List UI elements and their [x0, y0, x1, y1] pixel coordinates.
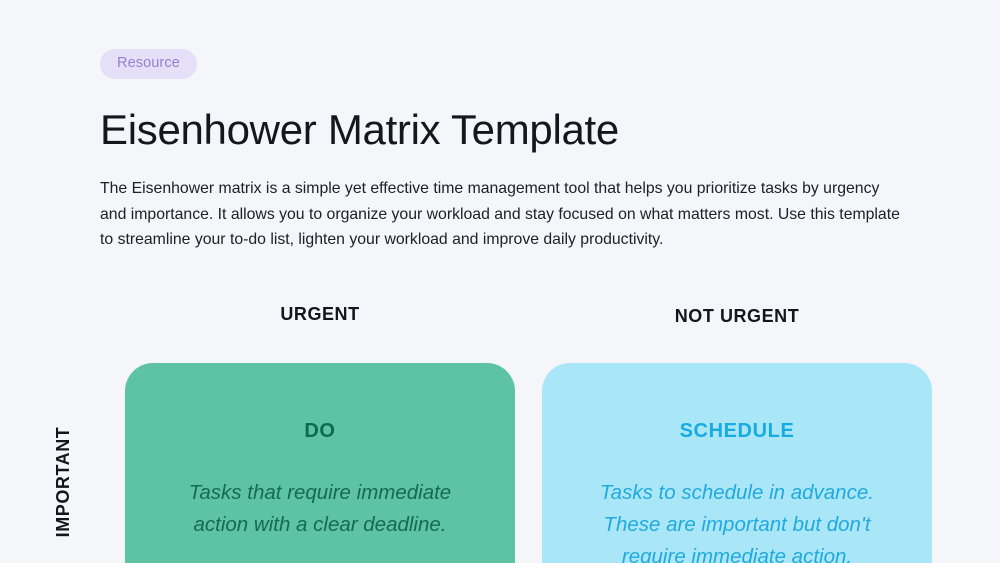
- matrix-row-axis: IMPORTANT: [0, 305, 125, 563]
- column-header-not-urgent: NOT URGENT: [542, 305, 932, 325]
- quadrant-schedule-description: Tasks to schedule in advance. These are …: [578, 477, 896, 563]
- quadrant-do-title: DO: [161, 421, 479, 441]
- quadrant-schedule-title: SCHEDULE: [578, 421, 896, 441]
- page-header: Resource Eisenhower Matrix Template The …: [100, 0, 920, 253]
- quadrant-do[interactable]: DO Tasks that require immediate action w…: [125, 363, 515, 563]
- row-axis-label-important: IMPORTANT: [54, 397, 72, 563]
- resource-badge: Resource: [100, 49, 197, 79]
- intro-paragraph: The Eisenhower matrix is a simple yet ef…: [100, 176, 905, 253]
- eisenhower-matrix: URGENT NOT URGENT IMPORTANT DO Tasks tha…: [0, 305, 1000, 563]
- template-page: Resource Eisenhower Matrix Template The …: [0, 0, 1000, 563]
- quadrant-do-description: Tasks that require immediate action with…: [161, 477, 479, 541]
- matrix-column-headers: URGENT NOT URGENT: [125, 305, 932, 325]
- matrix-quadrants: DO Tasks that require immediate action w…: [125, 363, 932, 563]
- page-title: Eisenhower Matrix Template: [100, 106, 920, 155]
- quadrant-schedule[interactable]: SCHEDULE Tasks to schedule in advance. T…: [542, 363, 932, 563]
- column-header-urgent: URGENT: [125, 305, 515, 325]
